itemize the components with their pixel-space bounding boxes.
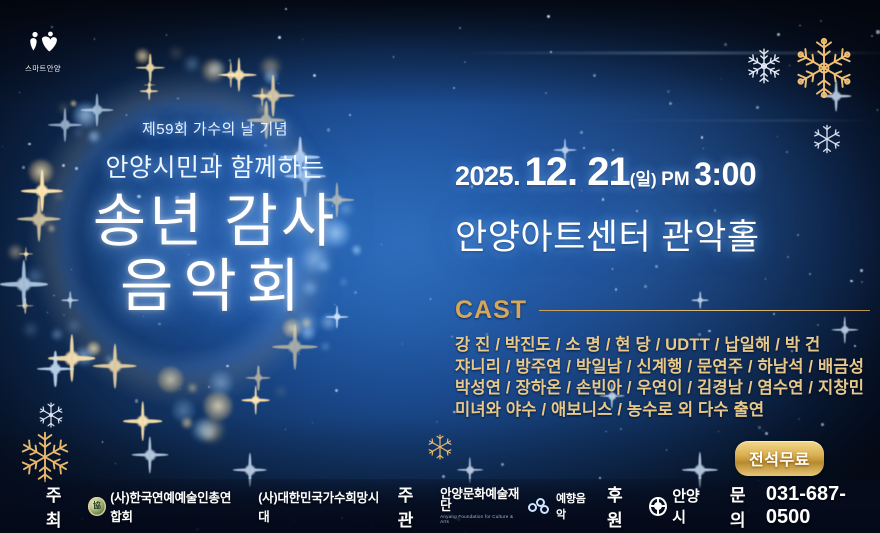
inquiry-label: 문의 [730,481,760,531]
cast-line: 강 진 / 박진도 / 소 명 / 현 당 / UDTT / 납일해 / 박 건 [455,335,870,357]
manage-org-sub: Anyang Foundation for Culture & Arts [440,515,523,524]
star-dot [667,90,670,93]
star-dot [545,92,547,94]
support-org: 안양시 [672,485,709,527]
title-block: 제59회 가수의 날 기념 안양시민과 함께하는 송년 감사 음악회 [0,118,430,320]
star-dot [226,365,228,367]
cast-header: CAST [455,296,870,325]
poster-subtitle: 안양시민과 함께하는 [0,148,430,184]
star-dot [102,441,103,442]
star-dot [703,148,704,149]
star-dot [453,87,455,89]
smart-anyang-logo: 스마트안양 [14,30,72,74]
star-dot [177,98,178,99]
light-streak [460,52,880,54]
star-dot [312,422,313,423]
anyang-foundation-logo: 안양문화예술재단 Anyang Foundation for Culture &… [440,488,523,524]
concert-poster: 스마트안양 제59회 가수의 날 기념 안양시민과 함께하는 송년 감사 음악회… [0,0,880,533]
star-dot [583,147,585,149]
star-dot [442,475,445,478]
free-admission-badge: 전석무료 [735,441,824,476]
support-label: 후원 [607,481,637,531]
logo-caption: 스마트안양 [14,63,72,74]
star-dot [876,30,879,33]
star-dot [313,74,316,77]
date-meridiem: PM [661,169,690,190]
manage-label: 주관 [398,481,428,531]
smart-anyang-icon [26,30,60,56]
cast-line: 쟈니리 / 방주연 / 박일남 / 신계행 / 문연주 / 하남석 / 배금성 [455,357,870,379]
star-dot [298,353,300,355]
star-dot [94,38,96,40]
cast-divider [539,310,870,311]
poster-kicker: 제59회 가수의 날 기념 [0,118,430,139]
star-dot [669,102,672,105]
poster-title-line1: 송년 감사 [0,190,430,255]
star-dot [51,26,53,28]
info-block: 2025. 12. 21(일) PM 3:00 안양아트센터 관악홀 CAST … [455,150,870,421]
star-dot [593,74,596,77]
venue-name: 안양아트센터 관악홀 [455,209,870,260]
star-dot [144,428,146,430]
cast-list: 강 진 / 박진도 / 소 명 / 현 당 / UDTT / 납일해 / 박 건… [455,335,870,421]
star-dot [135,399,138,402]
star-dot [758,426,761,429]
poster-title: 송년 감사 음악회 [0,190,430,320]
date-line: 2025. 12. 21(일) PM 3:00 [455,150,870,195]
inquiry-phone: 031-687-0500 [766,483,880,529]
star-dot [721,78,722,79]
host-label: 주최 [46,481,76,531]
manage-org-2: 예향음악 [556,490,592,522]
date-time: 3:00 [694,156,756,192]
star-dot [777,33,780,36]
star-dot [285,429,286,430]
star-dot [765,432,768,435]
star-dot [821,423,824,426]
star-dot [871,35,872,36]
cast-label: CAST [455,296,527,325]
cast-line: 박성연 / 장하온 / 손빈아 / 우연이 / 김경남 / 염수연 / 지창민 [455,378,870,400]
star-dot [158,323,160,325]
anyang-city-icon [649,497,666,516]
korea-artists-emblem-icon: 協 [88,497,105,516]
host-org-1: (사)한국연예예술인총연합회 [110,487,242,525]
light-streak-secondary [580,120,880,121]
star-dot [724,43,727,46]
date-weekday: (일) [630,170,657,189]
star-dot [501,463,504,466]
star-dot [580,131,582,133]
poster-footer: 주최 協 (사)한국연예예술인총연합회 (사)대한민국가수희망시대 주관 안양문… [0,479,880,533]
star-dot [208,386,210,388]
manage-org: 안양문화예술재단 [440,488,523,513]
star-dot [402,343,403,344]
star-dot [278,36,281,39]
date-monthday: 12. 21 [525,150,630,194]
host-org-2: (사)대한민국가수희망시대 [258,487,379,525]
foundation-mark-icon [528,498,548,514]
poster-title-line2: 음악회 [0,255,430,320]
date-year: 2025. [455,161,520,191]
cast-line: 미녀와 야수 / 애보니스 / 농수로 외 다수 출연 [455,400,870,422]
star-dot [180,389,181,390]
